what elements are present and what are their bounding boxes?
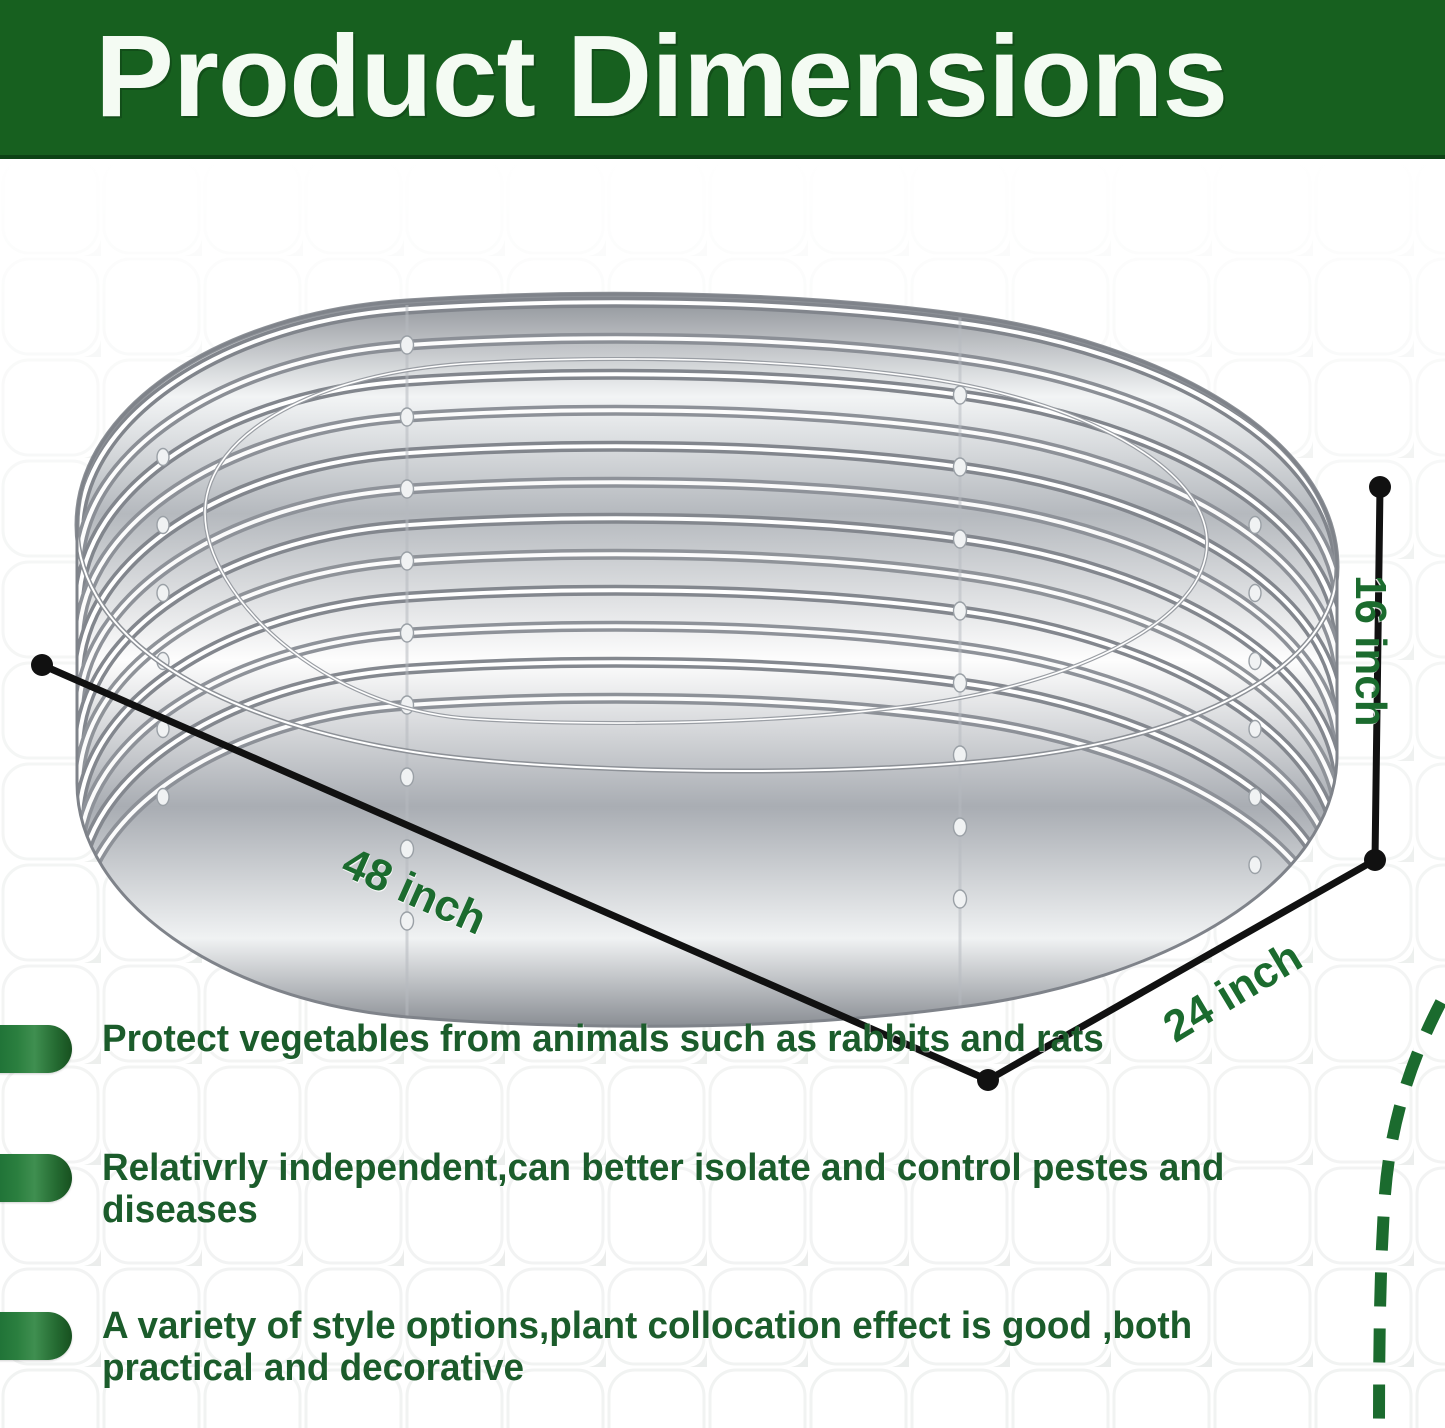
bullet-pill-icon: [0, 1154, 72, 1202]
feature-text: Relativrly independent,can better isolat…: [102, 1147, 1247, 1231]
bullet-pill-icon: [0, 1312, 72, 1360]
page-title: Product Dimensions: [95, 16, 1411, 136]
bed-outer-wall: [77, 294, 1339, 1026]
bullet-pill-icon: [0, 1025, 72, 1073]
dimension-label-height: 16 inch: [1345, 575, 1395, 727]
product-dimensions-infographic: Product Dimensions: [0, 0, 1445, 1428]
product-image-raised-garden-bed: [55, 195, 1355, 1075]
feature-list: Protect vegetables from animals such as …: [0, 1018, 1445, 1428]
list-item: Relativrly independent,can better isolat…: [0, 1147, 1445, 1231]
header-banner: Product Dimensions: [0, 0, 1445, 159]
feature-text: Protect vegetables from animals such as …: [102, 1018, 1247, 1060]
list-item: A variety of style options,plant colloca…: [0, 1305, 1445, 1389]
feature-text: A variety of style options,plant colloca…: [102, 1305, 1247, 1389]
list-item: Protect vegetables from animals such as …: [0, 1018, 1445, 1073]
